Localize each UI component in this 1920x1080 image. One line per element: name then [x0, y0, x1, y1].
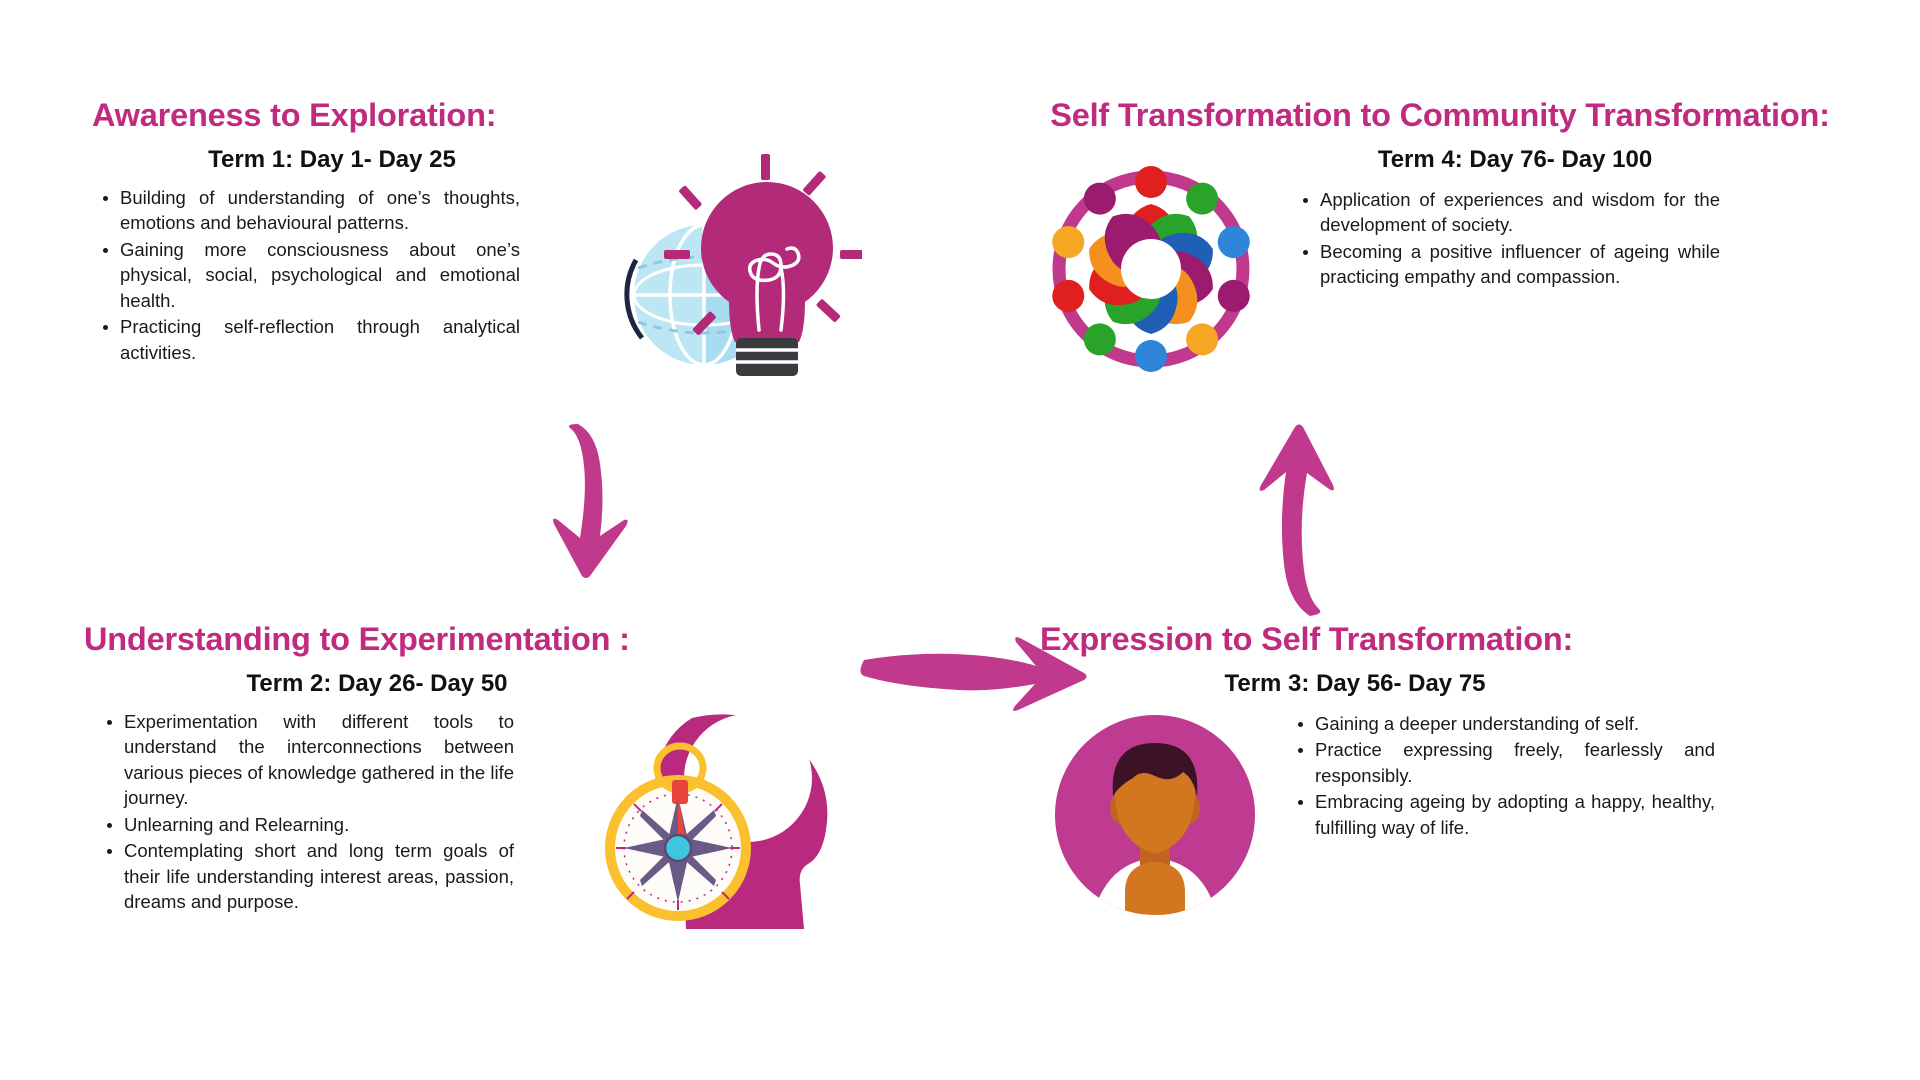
quadrant-3-bullet-list: Gaining a deeper understanding of self. … [1285, 711, 1715, 841]
arrow-up-icon [1250, 420, 1360, 620]
list-item: Building of understanding of one’s thoug… [120, 185, 520, 236]
community-circle-icon [1042, 160, 1260, 378]
list-item: Experimentation with different tools to … [124, 709, 514, 811]
person-avatar-icon [1040, 700, 1270, 930]
quadrant-2-heading: Understanding to Experimentation : [72, 620, 752, 660]
quadrant-4-heading: Self Transformation to Community Transfo… [1040, 96, 1840, 136]
list-item: Becoming a positive influencer of ageing… [1320, 239, 1720, 290]
list-item: Application of experiences and wisdom fo… [1320, 187, 1720, 238]
list-item: Embracing ageing by adopting a happy, he… [1315, 789, 1715, 840]
quadrant-4-bullet-list: Application of experiences and wisdom fo… [1290, 187, 1720, 290]
quadrant-2-subheading: Term 2: Day 26- Day 50 [72, 668, 752, 699]
list-item: Gaining a deeper understanding of self. [1315, 711, 1715, 737]
list-item: Contemplating short and long term goals … [124, 838, 514, 915]
arrow-right-icon [860, 630, 1090, 720]
list-item: Practice expressing freely, fearlessly a… [1315, 737, 1715, 788]
list-item: Unlearning and Relearning. [124, 812, 514, 838]
infographic-canvas: Awareness to Exploration: Term 1: Day 1-… [0, 0, 1920, 1080]
quadrant-1-bullet-list: Building of understanding of one’s thoug… [90, 185, 520, 366]
quadrant-1-heading: Awareness to Exploration: [72, 96, 732, 136]
list-item: Practicing self-reflection through analy… [120, 314, 520, 365]
arrow-down-icon [540, 420, 650, 580]
quadrant-2-bullet-list: Experimentation with different tools to … [94, 709, 514, 915]
quadrant-3-heading: Expression to Self Transformation: [1040, 620, 1840, 660]
list-item: Gaining more consciousness about one’s p… [120, 237, 520, 314]
lightbulb-globe-icon [612, 140, 862, 380]
quadrant-3-subheading: Term 3: Day 56- Day 75 [1040, 668, 1840, 699]
compass-head-icon [600, 706, 850, 941]
